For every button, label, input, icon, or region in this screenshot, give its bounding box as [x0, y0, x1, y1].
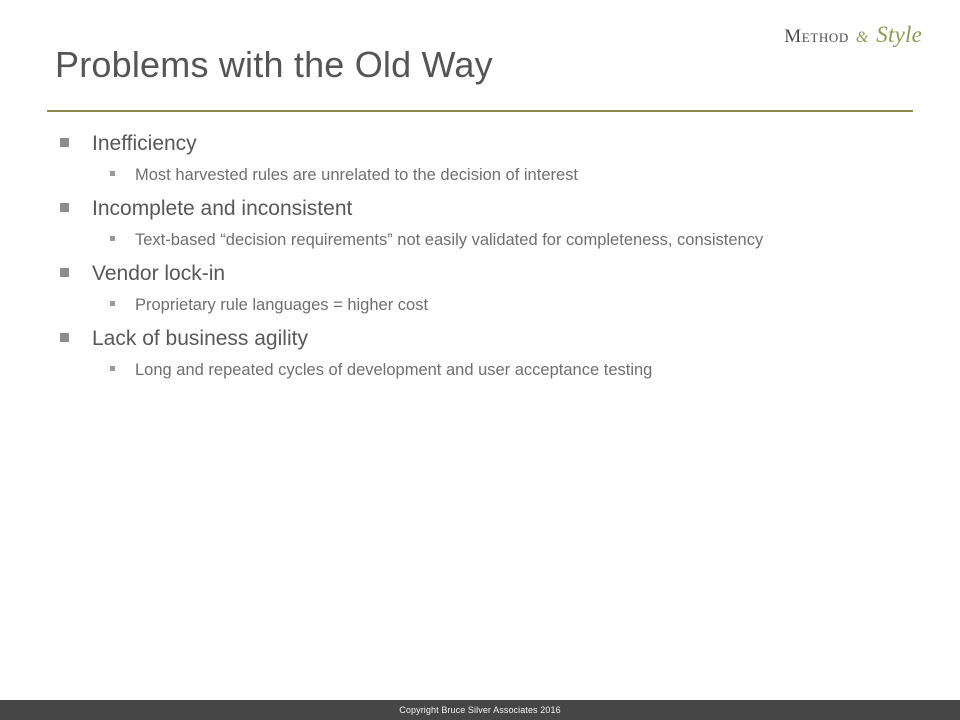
bullet-list: Inefficiency Most harvested rules are un… [47, 131, 917, 391]
method-and-style-logo: Method & Style [784, 22, 922, 48]
copyright-text: Copyright Bruce Silver Associates 2016 [399, 705, 560, 715]
list-item-label: Most harvested rules are unrelated to th… [135, 164, 578, 186]
bullet-square-icon [60, 268, 69, 277]
list-item: Lack of business agility [47, 326, 917, 359]
bullet-square-icon [60, 333, 69, 342]
footer: Copyright Bruce Silver Associates 2016 [0, 700, 960, 720]
bullet-square-icon [60, 138, 69, 147]
slide: Method & Style Problems with the Old Way… [0, 0, 960, 720]
bullet-square-icon [60, 203, 69, 212]
page-title: Problems with the Old Way [55, 42, 493, 88]
sub-bullet-square-icon [110, 171, 115, 176]
list-item: Incomplete and inconsistent [47, 196, 917, 229]
list-item-label: Incomplete and inconsistent [92, 196, 352, 222]
list-item-label: Proprietary rule languages = higher cost [135, 294, 428, 316]
sub-bullet-square-icon [110, 236, 115, 241]
title-divider [47, 110, 913, 112]
list-item: Inefficiency [47, 131, 917, 164]
logo-ampersand-icon: & [856, 29, 868, 47]
list-item: Vendor lock-in [47, 261, 917, 294]
list-item-label: Long and repeated cycles of development … [135, 359, 652, 381]
list-item: Proprietary rule languages = higher cost [47, 294, 917, 326]
logo-wordmark-style: Style [876, 22, 922, 48]
sub-bullet-square-icon [110, 366, 115, 371]
list-item-label: Inefficiency [92, 131, 197, 157]
logo-wordmark-method: Method [784, 26, 849, 48]
list-item-label: Vendor lock-in [92, 261, 225, 287]
list-item-label: Text-based “decision requirements” not e… [135, 229, 763, 251]
list-item: Long and repeated cycles of development … [47, 359, 917, 391]
list-item: Most harvested rules are unrelated to th… [47, 164, 917, 196]
list-item: Text-based “decision requirements” not e… [47, 229, 917, 261]
list-item-label: Lack of business agility [92, 326, 308, 352]
sub-bullet-square-icon [110, 301, 115, 306]
